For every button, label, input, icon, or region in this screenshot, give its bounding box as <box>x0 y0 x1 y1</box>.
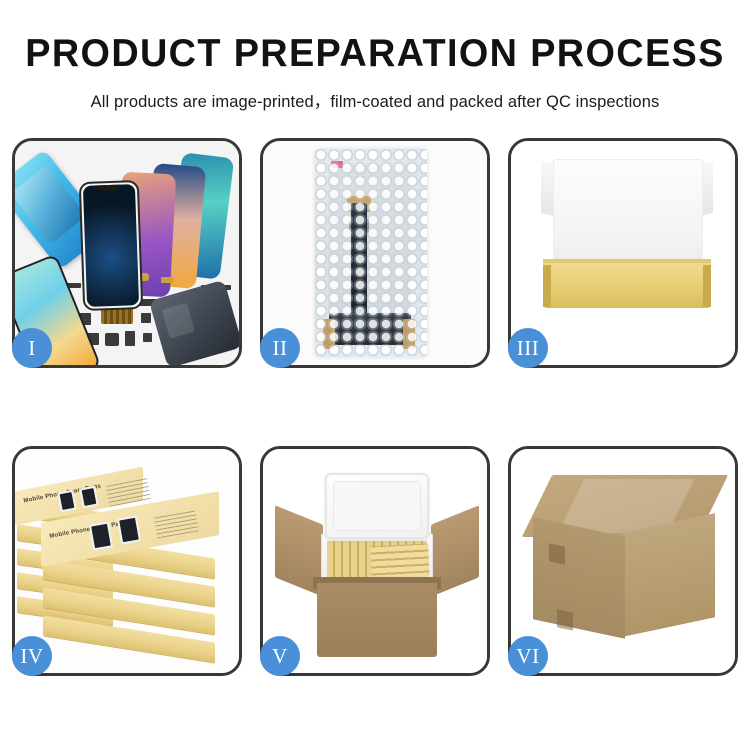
process-step-panel-3[interactable]: III <box>508 138 738 368</box>
step-5-image <box>263 449 487 673</box>
page-title: PRODUCT PREPARATION PROCESS <box>11 34 739 75</box>
small-part <box>143 333 152 342</box>
box-edge-right <box>703 265 711 307</box>
box-phone-image <box>117 515 141 544</box>
step-2-image <box>263 141 487 365</box>
carton-body <box>317 583 437 657</box>
bubble-wrap-overlay <box>315 149 427 357</box>
process-step-panel-2[interactable]: II <box>260 138 490 368</box>
page-subtitle: All products are image-printed，film-coat… <box>0 88 750 112</box>
step-badge-4: IV <box>12 636 52 676</box>
page-header: PRODUCT PREPARATION PROCESS All products… <box>0 0 750 112</box>
step-badge-6: VI <box>508 636 548 676</box>
box-edge-left <box>543 265 551 307</box>
step-badge-2: II <box>260 328 300 368</box>
small-part <box>141 313 151 323</box>
carton-tape-mark <box>549 543 565 564</box>
process-step-panel-5[interactable]: V <box>260 446 490 676</box>
carton-tape-mark <box>557 609 573 630</box>
box-phone-image <box>89 521 113 550</box>
foam-case-lid <box>325 473 429 539</box>
product-preparation-page: PRODUCT PREPARATION PROCESS All products… <box>0 0 750 750</box>
process-step-panel-6[interactable]: VI <box>508 446 738 676</box>
carton-side-face <box>623 513 715 637</box>
small-part <box>161 277 173 283</box>
kraft-box-base <box>543 263 711 308</box>
packed-yellow-boxes <box>370 544 430 581</box>
step-6-image <box>511 449 735 673</box>
step-3-image <box>511 141 735 365</box>
process-step-grid: I II <box>12 138 738 676</box>
process-step-panel-1[interactable]: I <box>12 138 242 368</box>
small-part <box>125 331 135 346</box>
small-part <box>105 333 119 346</box>
step-1-image <box>15 141 239 365</box>
step-badge-1: I <box>12 328 52 368</box>
step-badge-5: V <box>260 636 300 676</box>
process-step-panel-4[interactable]: Mobile Phone Spare Parts Mobile Phone Sp… <box>12 446 242 676</box>
carton-front-face <box>533 517 625 639</box>
step-4-image: Mobile Phone Spare Parts Mobile Phone Sp… <box>15 449 239 673</box>
phone-front-dark-graphic <box>79 180 143 311</box>
step-badge-3: III <box>508 328 548 368</box>
